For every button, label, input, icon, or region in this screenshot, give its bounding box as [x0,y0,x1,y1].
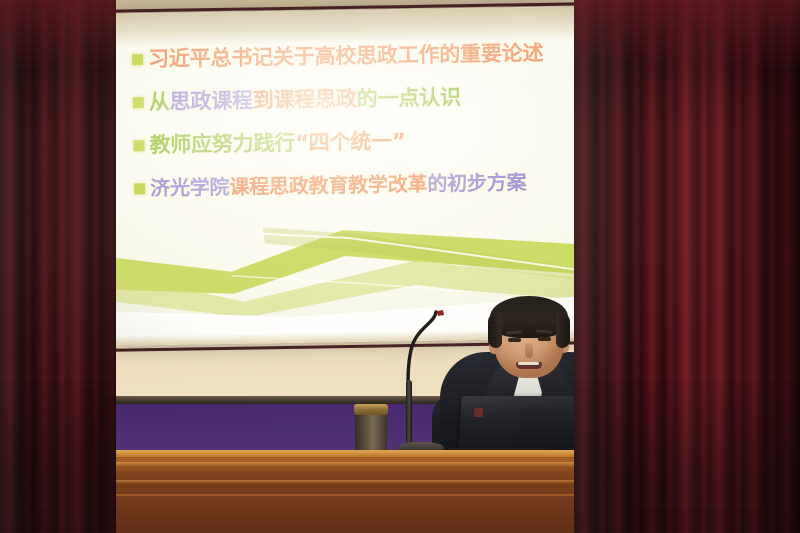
curtain-left [0,0,116,533]
speaker-nose [525,343,533,358]
curtain-left-sheen [0,0,116,533]
slide-vignette [109,6,582,345]
curtain-right [574,0,800,533]
thermos-lid [354,404,388,415]
curtain-right-top-light [574,0,800,70]
speaker-hair-left [488,312,502,348]
curtain-left-top-light [0,0,116,70]
photo-scene: 习近平总书记关于高校思政工作的重要论述 从 思政课程 到课程思政 的一点认识 教… [0,0,800,533]
microphone-gooseneck-icon [404,310,452,388]
microphone-stem [406,380,412,444]
speaker-teeth [518,362,539,365]
laptop-logo-icon [474,408,483,417]
projection-screen: 习近平总书记关于高校思政工作的重要论述 从 思政课程 到课程思政 的一点认识 教… [109,6,582,345]
laptop-screen-lid [458,396,583,458]
curtain-right-sheen [574,0,800,533]
speaker-eye-right [538,337,551,341]
presentation-slide: 习近平总书记关于高校思政工作的重要论述 从 思政课程 到课程思政 的一点认识 教… [109,6,582,345]
speaker-eye-left [508,338,521,342]
speaker-hair-right [556,312,570,348]
